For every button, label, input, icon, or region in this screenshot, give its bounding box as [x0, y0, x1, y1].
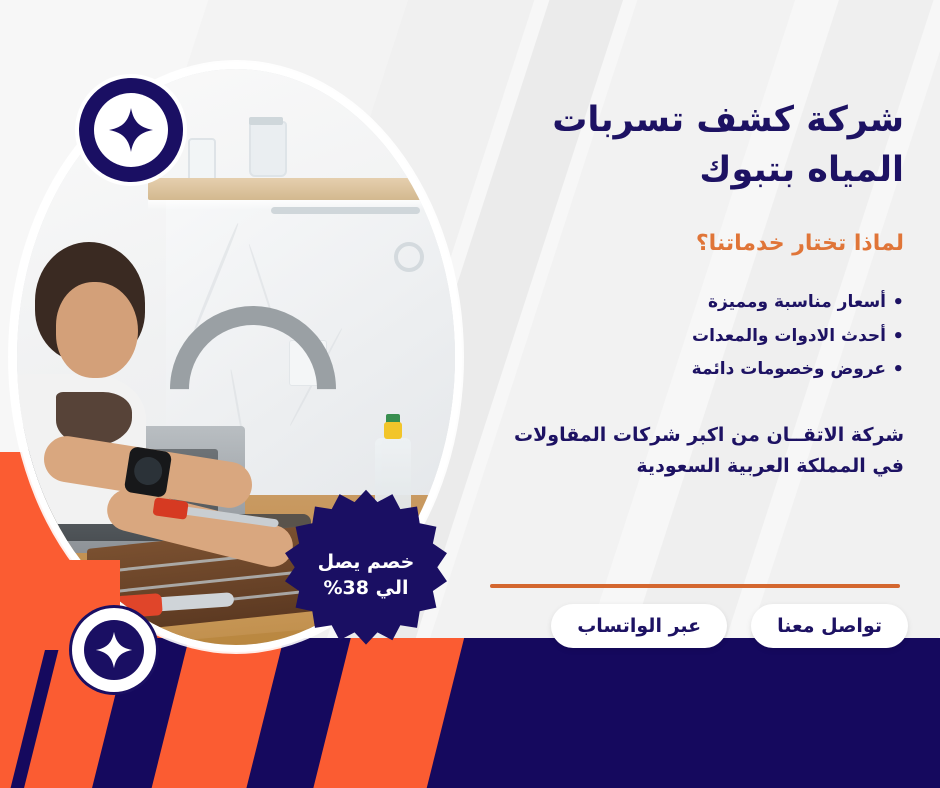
- photo-jar: [249, 121, 287, 177]
- section-subtitle: لماذا تختار خدماتنا؟: [484, 231, 904, 256]
- badge-line-1: خصم يصل: [318, 550, 415, 576]
- contact-us-button[interactable]: تواصل معنا: [751, 604, 908, 648]
- company-description: شركة الاتقــان من اكبر شركات المقاولات ف…: [484, 420, 904, 482]
- badge-line-2: الي 38%: [318, 576, 415, 602]
- list-item: أحدث الادوات والمعدات: [484, 320, 904, 353]
- benefits-list: أسعار مناسبة ومميزة أحدث الادوات والمعدا…: [484, 286, 904, 385]
- photo-rail: [271, 207, 420, 214]
- discount-badge: خصم يصل الي 38%: [278, 488, 454, 664]
- photo-wood-shelf: [148, 178, 455, 200]
- badge-text: خصم يصل الي 38%: [318, 550, 415, 601]
- promotional-poster: خصم يصل الي 38% شركة كشف تسربات المياه ب…: [0, 0, 940, 788]
- photo-hook: [394, 242, 424, 272]
- whatsapp-button[interactable]: عبر الواتساب: [551, 604, 727, 648]
- logo-inner-circle: [84, 620, 144, 680]
- sparkle-logo-icon-top: [79, 78, 183, 182]
- content-column: شركة كشف تسربات المياه بتبوك لماذا تختار…: [484, 96, 904, 481]
- list-item: عروض وخصومات دائمة: [484, 353, 904, 386]
- page-title: شركة كشف تسربات المياه بتبوك: [484, 96, 904, 195]
- list-item: أسعار مناسبة ومميزة: [484, 286, 904, 319]
- orange-divider: [490, 584, 900, 588]
- logo-inner-circle: [94, 93, 168, 167]
- photo-person-face: [56, 282, 138, 378]
- photo-wristwatch: [123, 446, 172, 498]
- sparkle-logo-icon-bottom: [72, 608, 156, 692]
- cta-button-group: تواصل معنا عبر الواتساب: [551, 604, 908, 648]
